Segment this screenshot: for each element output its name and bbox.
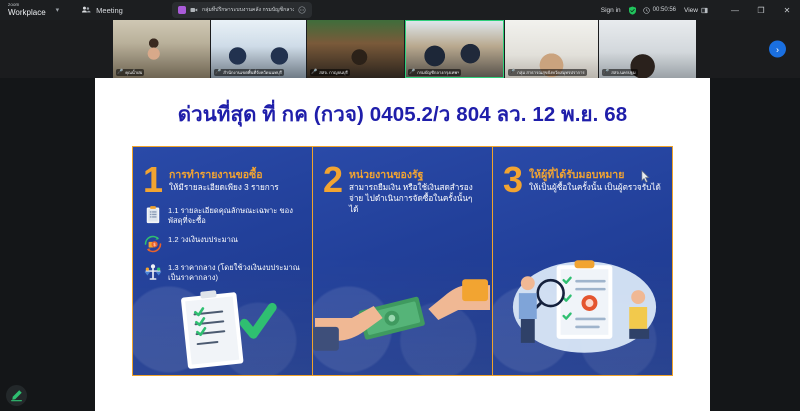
video-tile-name-label: กลุ่ม สาธารณสุขจังหวัดสมุทรปราการ	[517, 69, 584, 76]
meeting-tab-label: Meeting	[96, 6, 123, 15]
video-tile-nameplate: 🎤สสจ. กาญจนบุรี	[310, 69, 350, 76]
purple-app-icon	[178, 6, 186, 14]
meeting-tab[interactable]: Meeting	[81, 5, 123, 15]
panel-1-bullet-list: 1.1 รายละเอียดคุณลักษณะเฉพาะ ของพัสดุที่…	[143, 205, 302, 284]
video-tile-name-label: คุณน้ำฝน	[125, 69, 142, 76]
mic-muted-icon: 🎤	[215, 70, 221, 75]
video-tile-nameplate: 🎤สำนักงานเขตพื้นที่จังหวัดนนทบุรี	[214, 69, 284, 76]
video-tile-name-label: สำนักงานเขตพื้นที่จังหวัดนนทบุรี	[223, 69, 282, 76]
video-tile-name-label: สสจ. กาญจนบุรี	[319, 69, 348, 76]
zoom-workplace-logo: zoom Workplace	[8, 3, 46, 17]
layout-grid-icon	[701, 7, 708, 14]
panel-2-heading: หน่วยงานของรัฐ	[349, 169, 482, 181]
annotate-button[interactable]	[6, 385, 27, 406]
panel-1-number: 1	[143, 165, 163, 196]
svg-text:$: $	[153, 242, 156, 248]
panel-2-number: 2	[323, 165, 343, 196]
video-tile-nameplate: 🎤กลุ่ม สาธารณสุขจังหวัดสมุทรปราการ	[508, 69, 587, 76]
video-tile[interactable]: 🎤สำนักงานเขตพื้นที่จังหวัดนนทบุรี	[211, 20, 306, 78]
chevron-down-icon[interactable]: ▾	[56, 7, 60, 14]
slide-panel-1: 1 การทำรายงานขอซื้อ ให้มีรายละเอียดเพียง…	[133, 147, 312, 375]
people-icon	[81, 5, 91, 15]
active-meeting-tab-label: กลุ่มที่ปรึกษาระบบงานคลัง กรมบัญชีกลาง	[202, 6, 294, 14]
window-title-bar: zoom Workplace ▾ Meeting กลุ่มที่ปรึกษาร…	[0, 0, 800, 20]
video-tile[interactable]: 🎤สสจ. กาญจนบุรี	[307, 20, 404, 78]
video-tile[interactable]: 🎤คุณน้ำฝน	[113, 20, 210, 78]
panel-1-illustration	[133, 279, 312, 375]
more-dots-icon[interactable]	[298, 6, 306, 14]
view-button[interactable]: View	[684, 7, 708, 14]
desktop-left-gutter	[0, 78, 95, 411]
shield-check-icon[interactable]	[628, 6, 637, 15]
panel-1-heading: การทำรายงานขอซื้อ	[169, 169, 279, 181]
mic-muted-icon: 🎤	[311, 70, 317, 75]
close-button[interactable]: ✕	[774, 0, 800, 20]
bullet-item: $ 1.2 วงเงินงบประมาณ	[143, 234, 302, 254]
minimize-button[interactable]: —	[722, 0, 748, 20]
sign-in-button[interactable]: Sign in	[601, 7, 621, 14]
panel-1-bullet-1-text: 1.1 รายละเอียดคุณลักษณะเฉพาะ ของพัสดุที่…	[168, 205, 302, 227]
mic-muted-icon: 🎤	[603, 70, 609, 75]
clipboard-icon	[143, 205, 163, 225]
zoom-workplace-window: zoom Workplace ▾ Meeting กลุ่มที่ปรึกษาร…	[0, 0, 800, 411]
slide-panel-group: 1 การทำรายงานขอซื้อ ให้มีรายละเอียดเพียง…	[132, 146, 673, 376]
panel-2-subheading: สามารถยืมเงิน หรือใช้เงินสดสำรองจ่าย ไปด…	[349, 183, 482, 215]
video-tile[interactable]: 🎤สสจ.นครปฐม	[599, 20, 696, 78]
mic-muted-icon: 🎤	[509, 70, 515, 75]
slide-panel-2: 2 หน่วยงานของรัฐ สามารถยืมเงิน หรือใช้เง…	[312, 147, 492, 375]
mic-icon: 🎤	[409, 70, 415, 75]
mouse-cursor	[641, 170, 650, 183]
video-tile-name-label: สสจ.นครปฐม	[611, 69, 635, 76]
pen-annotate-icon	[10, 389, 23, 402]
panel-3-number: 3	[503, 165, 523, 196]
bullet-item: 1.1 รายละเอียดคุณลักษณะเฉพาะ ของพัสดุที่…	[143, 205, 302, 227]
video-tile-list: 🎤คุณน้ำฝน🎤สำนักงานเขตพื้นที่จังหวัดนนทบุ…	[113, 20, 697, 78]
panel-1-bullet-2-text: 1.2 วงเงินงบประมาณ	[168, 234, 238, 245]
video-tile-nameplate: 🎤สสจ.นครปฐม	[602, 69, 638, 76]
mic-muted-icon: 🎤	[117, 70, 123, 75]
maximize-button[interactable]: ❐	[748, 0, 774, 20]
camera-icon	[190, 6, 198, 14]
panel-3-subheading: ให้เป็นผู้ซื้อในครั้งนั้น เป็นผู้ตรวจรับ…	[529, 183, 661, 194]
title-bar-right-controls: Sign in 00:50:56 View — ❐	[601, 0, 800, 20]
meeting-timer: 00:50:56	[643, 7, 676, 14]
meeting-timer-value: 00:50:56	[653, 7, 676, 13]
video-tile[interactable]: 🎤กลุ่ม สาธารณสุขจังหวัดสมุทรปราการ	[505, 20, 598, 78]
shared-screen-slide: ด่วนที่สุด ที่ กค (กวจ) 0405.2/ว 804 ลว.…	[95, 78, 710, 411]
video-tile-name-label: กรมบัญชีกลางกรุงเทพฯ	[417, 69, 459, 76]
panel-3-illustration	[493, 245, 672, 375]
panel-2-illustration	[313, 255, 492, 375]
video-tile-nameplate: 🎤กรมบัญชีกลางกรุงเทพฯ	[408, 69, 461, 76]
panel-1-subheading: ให้มีรายละเอียดเพียง 3 รายการ	[169, 183, 279, 194]
budget-cycle-icon: $	[143, 234, 163, 254]
view-button-label: View	[684, 7, 698, 14]
slide-title: ด่วนที่สุด ที่ กค (กวจ) 0405.2/ว 804 ลว.…	[95, 98, 710, 131]
filmstrip-next-page-button[interactable]: ›	[769, 41, 786, 58]
clock-icon	[643, 7, 650, 14]
active-meeting-tab[interactable]: กลุ่มที่ปรึกษาระบบงานคลัง กรมบัญชีกลาง	[172, 2, 312, 18]
brand-workplace-text: Workplace	[8, 9, 46, 17]
video-filmstrip: 🎤คุณน้ำฝน🎤สำนักงานเขตพื้นที่จังหวัดนนทบุ…	[0, 20, 800, 78]
desktop-right-gutter	[710, 78, 800, 411]
video-tile[interactable]: 🎤กรมบัญชีกลางกรุงเทพฯ	[405, 20, 504, 78]
video-tile-nameplate: 🎤คุณน้ำฝน	[116, 69, 144, 76]
